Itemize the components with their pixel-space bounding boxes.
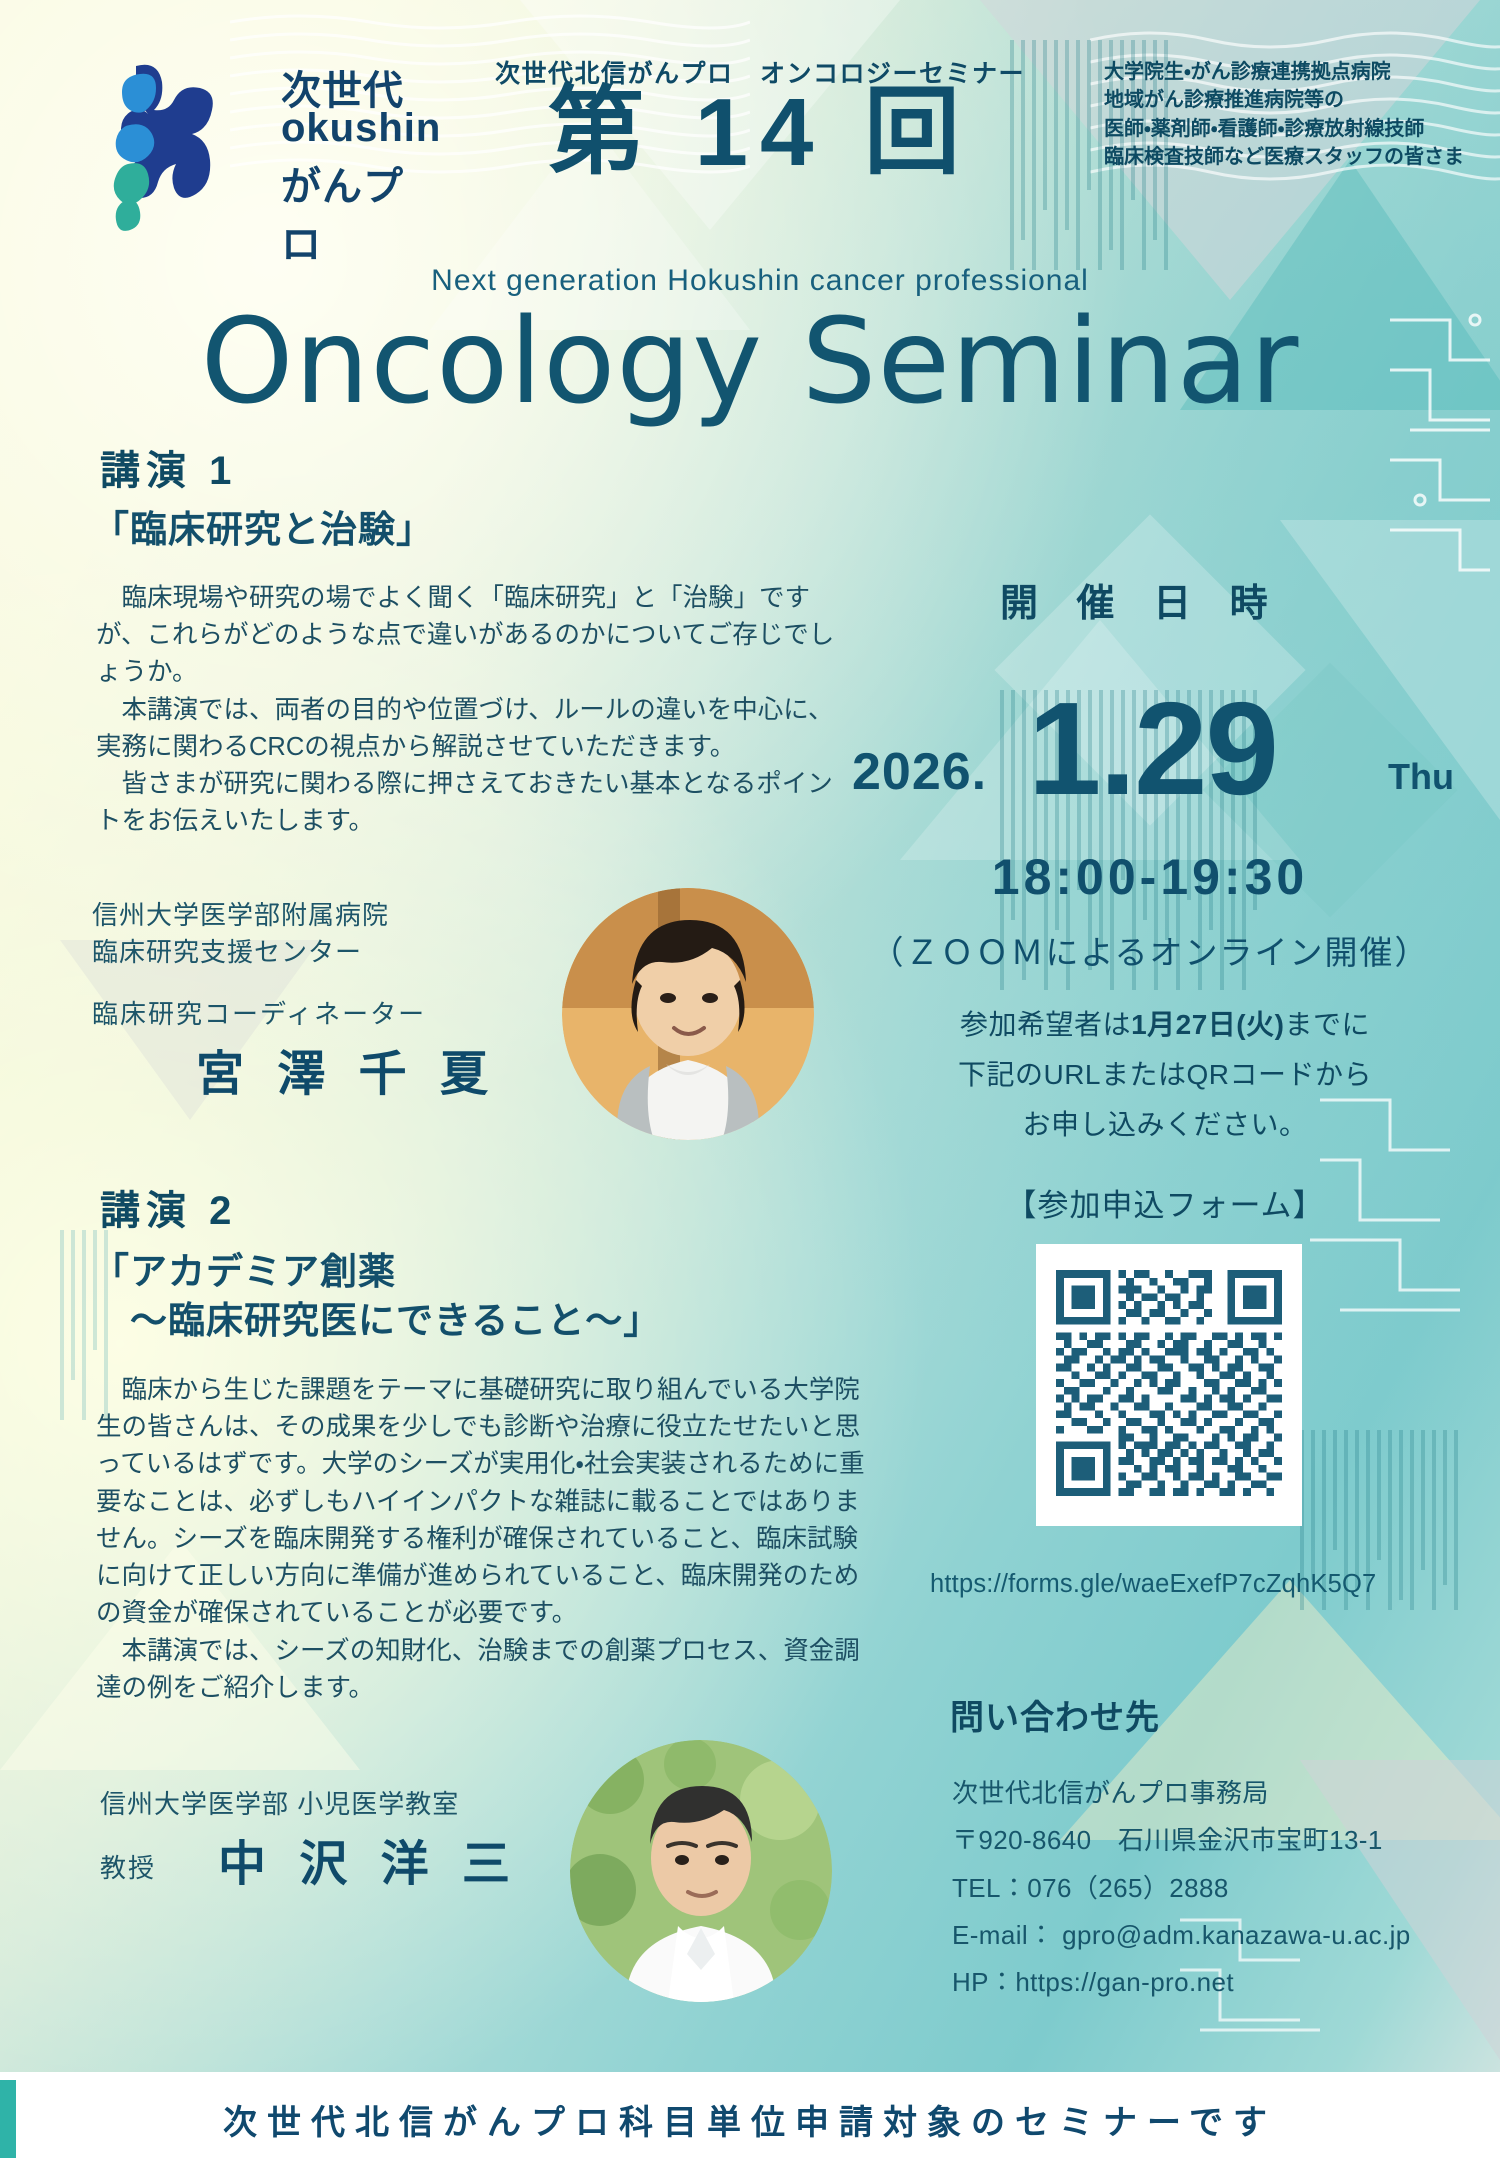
- event-date-block: 2026. 1.29 Thu: [840, 668, 1460, 808]
- audience-line-2: 地域がん診療推進病院等の: [1104, 86, 1494, 114]
- lecture-2-title: 「アカデミア創薬 〜臨床研究医にできること〜」: [92, 1248, 661, 1346]
- lecture-2-speaker-name: 中 沢 洋 三: [218, 1824, 520, 1894]
- issue-number: 第 14 回: [470, 80, 1050, 186]
- lecture-1-title: 「臨床研究と治験」: [92, 506, 434, 555]
- lecture-1-role: 臨床研究コーディネーター: [92, 994, 426, 1031]
- lecture-2-body: 臨床から生じた課題をテーマに基礎研究に取り組んでいる大学院生の皆さんは、その成果…: [96, 1372, 866, 1707]
- lecture-2-number: 講演 2: [100, 1178, 237, 1236]
- poster-canvas: 次世代 okushin がんプロ 次世代北信がんプロ オンコロジーセミナー 第 …: [0, 0, 1500, 2167]
- contact-homepage[interactable]: HP：https://gan-pro.net: [952, 1959, 1492, 2006]
- audience-line-1: 大学院生・がん診療連携拠点病院: [1104, 58, 1494, 86]
- apply-note-line3: お申し込みください。: [1022, 1109, 1307, 1140]
- audience-line-4: 臨床検査技師など医療スタッフの皆さま: [1104, 143, 1494, 171]
- lecture-1-affiliation: 信州大学医学部附属病院 臨床研究支援センター: [92, 897, 389, 971]
- lecture-1-speaker-name: 宮 澤 千 夏: [196, 1034, 498, 1104]
- datetime-label: 開 催 日 時: [1000, 572, 1282, 627]
- contact-address: 〒920-8640 石川県金沢市宝町13-1: [952, 1817, 1492, 1864]
- audience-line-3: 医師・薬剤師・看護師・診療放射線技師: [1104, 115, 1494, 143]
- logo-mark-icon: [96, 48, 286, 238]
- contact-title: 問い合わせ先: [950, 1690, 1160, 1739]
- event-time: 18:00-19:30: [840, 848, 1460, 906]
- logo-line-2: okushin: [281, 106, 441, 151]
- lecture-2-role: 教授: [100, 1848, 156, 1885]
- bottom-banner: 次世代北信がんプロ科目単位申請対象のセミナーです: [0, 2072, 1500, 2167]
- application-note: 参加希望者は1月27日(火)までに 下記のURLまたはQRコードから お申し込み…: [900, 1000, 1430, 1149]
- lecture-2-affiliation: 信州大学医学部 小児医学教室: [100, 1786, 459, 1823]
- banner-text: 次世代北信がんプロ科目単位申請対象のセミナーです: [0, 2072, 1500, 2167]
- form-label: 【参加申込フォーム】: [900, 1180, 1430, 1225]
- brand-logo: 次世代 okushin がんプロ: [96, 48, 426, 238]
- page-title: Oncology Seminar: [80, 292, 1420, 430]
- lecture-1-number: 講演 1: [100, 438, 237, 496]
- audience-list: 大学院生・がん診療連携拠点病院 地域がん診療推進病院等の 医師・薬剤師・看護師・…: [1104, 58, 1494, 172]
- apply-note-after: までに: [1284, 1009, 1370, 1040]
- event-day: 1.29: [1028, 673, 1277, 824]
- contact-lines: 次世代北信がんプロ事務局 〒920-8640 石川県金沢市宝町13-1 TEL：…: [952, 1770, 1492, 2007]
- apply-note-before: 参加希望者は: [960, 1009, 1131, 1040]
- qr-code-icon[interactable]: [1056, 1270, 1282, 1496]
- apply-deadline: 1月27日(火): [1131, 1009, 1284, 1040]
- contact-tel: TEL：076（265）2888: [952, 1865, 1492, 1912]
- apply-note-line2: 下記のURLまたはQRコードから: [958, 1059, 1372, 1090]
- speaker-2-photo: [570, 1740, 832, 2002]
- speaker-1-photo: [562, 888, 814, 1140]
- event-mode: （ＺＯＯＭによるオンライン開催）: [830, 926, 1470, 974]
- event-day-of-week: Thu: [1388, 756, 1454, 798]
- contact-office: 次世代北信がんプロ事務局: [952, 1770, 1492, 1817]
- qr-code-panel[interactable]: [1036, 1244, 1302, 1526]
- form-url-link[interactable]: https://forms.gle/waeExefP7cZqhK5Q7: [930, 1570, 1470, 1599]
- contact-email[interactable]: E-mail： gpro@adm.kanazawa-u.ac.jp: [952, 1912, 1492, 1959]
- event-year: 2026.: [852, 742, 987, 802]
- lecture-1-body: 臨床現場や研究の場でよく聞く「臨床研究」と「治験」ですが、これらがどのような点で…: [96, 580, 836, 841]
- logo-line-3: がんプロ: [281, 154, 426, 270]
